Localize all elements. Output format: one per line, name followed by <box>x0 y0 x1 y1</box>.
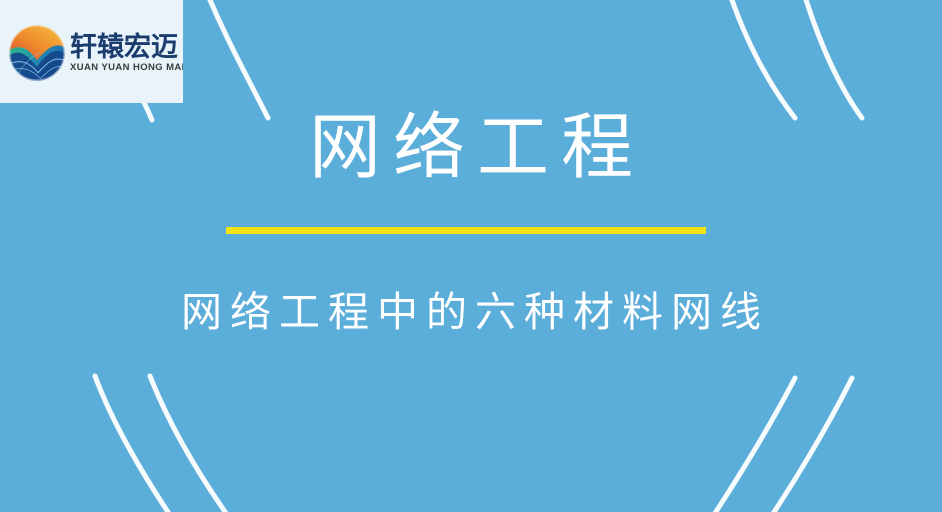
arc-bottom-left-outer <box>95 376 180 512</box>
logo-company-name-cn: 轩辕宏迈 <box>70 34 183 61</box>
accent-divider <box>226 227 706 234</box>
title-slide: 轩辕宏迈 XUAN YUAN HONG MAI 网络工程 网络工程中的六种材料网… <box>0 0 942 512</box>
logo-plate: 轩辕宏迈 XUAN YUAN HONG MAI <box>0 0 183 103</box>
logo-company-name-en: XUAN YUAN HONG MAI <box>70 63 183 73</box>
arc-bottom-right-outer <box>704 378 795 512</box>
logo-lockup: 轩辕宏迈 XUAN YUAN HONG MAI <box>8 22 180 84</box>
arc-top-left-inner <box>200 0 268 118</box>
arc-bottom-left-inner <box>150 376 238 512</box>
arc-top-right-outer <box>726 0 795 118</box>
page-subtitle: 网络工程中的六种材料网线 <box>0 288 942 337</box>
arc-top-right-inner <box>800 0 862 118</box>
arc-bottom-right-inner <box>762 378 852 512</box>
xuanyuan-hongmai-logo-icon <box>8 24 66 82</box>
page-title: 网络工程 <box>0 107 942 188</box>
logo-wordmark: 轩辕宏迈 XUAN YUAN HONG MAI <box>70 34 183 73</box>
